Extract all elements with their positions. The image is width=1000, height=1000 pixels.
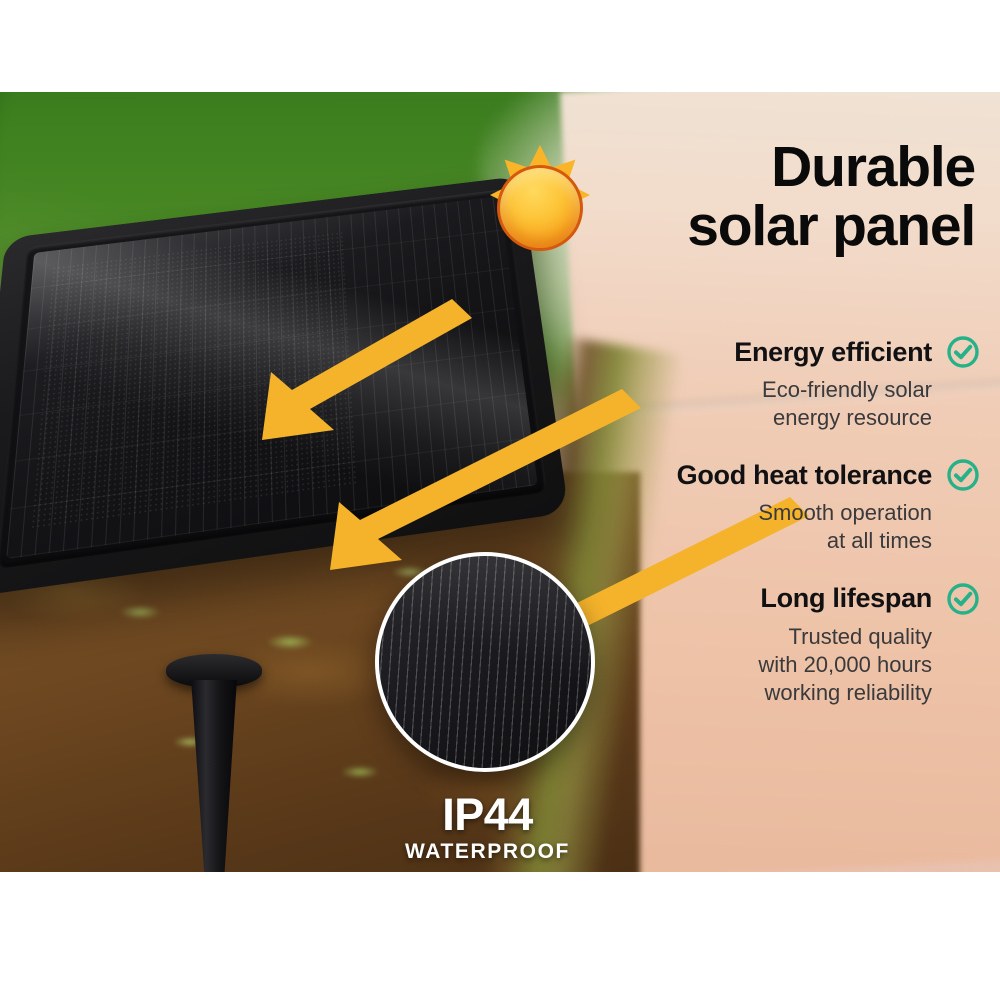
product-feature-graphic: IP44 WATERPROOF Durable solar panel Ener… — [0, 0, 1000, 1000]
feature-title: Long lifespan — [760, 583, 932, 614]
check-circle-icon — [946, 582, 980, 616]
check-circle-icon — [946, 458, 980, 492]
feature-title: Good heat tolerance — [677, 460, 932, 491]
feature-item-long-lifespan: Long lifespan Trusted quality with 20,00… — [620, 582, 980, 707]
feature-desc-line: Eco-friendly solar — [620, 376, 932, 404]
feature-desc-line: with 20,000 hours — [620, 651, 932, 679]
feature-description: Eco-friendly solar energy resource — [620, 376, 980, 432]
feature-list: Energy efficient Eco-friendly solar ener… — [620, 335, 980, 733]
magnified-solar-cell-circle — [375, 552, 595, 772]
waterproof-badge: IP44 WATERPROOF — [385, 792, 590, 864]
feature-item-heat-tolerance: Good heat tolerance Smooth operation at … — [620, 458, 980, 555]
sun-disc — [497, 165, 583, 251]
waterproof-label: WATERPROOF — [385, 840, 590, 864]
feature-header: Long lifespan — [620, 582, 980, 616]
magnifier-sheen — [379, 556, 591, 768]
ip-rating-text: IP44 — [385, 792, 590, 837]
check-circle-icon — [946, 335, 980, 369]
feature-desc-line: at all times — [620, 527, 932, 555]
headline-line-1: Durable — [687, 138, 975, 197]
sun-icon — [462, 130, 618, 286]
feature-description: Trusted quality with 20,000 hours workin… — [620, 623, 980, 707]
page-title: Durable solar panel — [687, 138, 975, 255]
feature-desc-line: Smooth operation — [620, 499, 932, 527]
feature-header: Good heat tolerance — [620, 458, 980, 492]
sunlight-arrow-icon — [262, 299, 472, 440]
headline-line-2: solar panel — [687, 197, 975, 256]
sunlight-arrow-icon — [330, 389, 641, 570]
feature-desc-line: working reliability — [620, 679, 932, 707]
feature-item-energy-efficient: Energy efficient Eco-friendly solar ener… — [620, 335, 980, 432]
feature-desc-line: Trusted quality — [620, 623, 932, 651]
feature-header: Energy efficient — [620, 335, 980, 369]
feature-description: Smooth operation at all times — [620, 499, 980, 555]
feature-title: Energy efficient — [734, 337, 932, 368]
feature-desc-line: energy resource — [620, 404, 932, 432]
